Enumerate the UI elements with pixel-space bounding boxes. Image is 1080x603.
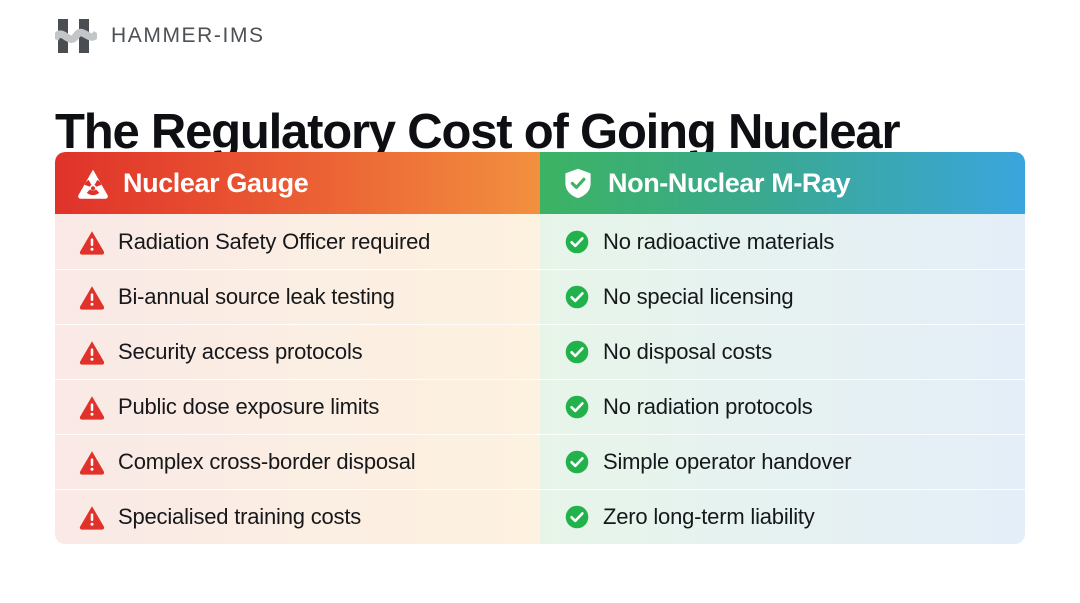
row-label: No special licensing — [603, 284, 793, 310]
row-label: Simple operator handover — [603, 449, 851, 475]
table-row[interactable]: No radiation protocols — [540, 379, 1025, 434]
radiation-warning-triangle-icon — [77, 167, 109, 199]
check-circle-icon — [564, 504, 590, 530]
row-label: Security access protocols — [118, 339, 362, 365]
row-label: Radiation Safety Officer required — [118, 229, 430, 255]
warning-triangle-icon — [79, 339, 105, 365]
rows-nuclear-gauge: Radiation Safety Officer required Bi-ann… — [55, 214, 540, 544]
row-label: Zero long-term liability — [603, 504, 815, 530]
table-row[interactable]: Specialised training costs — [55, 489, 540, 544]
check-circle-icon — [564, 449, 590, 475]
check-circle-icon — [564, 394, 590, 420]
column-header-nuclear-gauge: Nuclear Gauge — [55, 152, 540, 214]
row-label: Public dose exposure limits — [118, 394, 379, 420]
warning-triangle-icon — [79, 449, 105, 475]
column-header-label: Non-Nuclear M-Ray — [608, 168, 850, 199]
row-label: Bi-annual source leak testing — [118, 284, 395, 310]
table-row[interactable]: No radioactive materials — [540, 214, 1025, 269]
table-row[interactable]: No disposal costs — [540, 324, 1025, 379]
column-header-label: Nuclear Gauge — [123, 168, 308, 199]
table-row[interactable]: Complex cross-border disposal — [55, 434, 540, 489]
check-circle-icon — [564, 284, 590, 310]
column-header-non-nuclear-m-ray: Non-Nuclear M-Ray — [540, 152, 1025, 214]
warning-triangle-icon — [79, 394, 105, 420]
column-non-nuclear-m-ray: Non-Nuclear M-Ray No radioactive materia… — [540, 152, 1025, 544]
rows-non-nuclear-m-ray: No radioactive materials No special lice… — [540, 214, 1025, 544]
table-row[interactable]: Bi-annual source leak testing — [55, 269, 540, 324]
column-nuclear-gauge: Nuclear Gauge Radiation Safety Officer r… — [55, 152, 540, 544]
warning-triangle-icon — [79, 284, 105, 310]
table-row[interactable]: Zero long-term liability — [540, 489, 1025, 544]
table-row[interactable]: No special licensing — [540, 269, 1025, 324]
brand-header: HAMMER-IMS — [55, 14, 265, 58]
warning-triangle-icon — [79, 504, 105, 530]
comparison-table: Nuclear Gauge Radiation Safety Officer r… — [55, 152, 1025, 544]
row-label: No disposal costs — [603, 339, 772, 365]
row-label: Specialised training costs — [118, 504, 361, 530]
brand-name: HAMMER-IMS — [111, 24, 265, 48]
table-row[interactable]: Radiation Safety Officer required — [55, 214, 540, 269]
shield-check-icon — [562, 167, 594, 199]
warning-triangle-icon — [79, 229, 105, 255]
check-circle-icon — [564, 339, 590, 365]
table-row[interactable]: Simple operator handover — [540, 434, 1025, 489]
row-label: No radioactive materials — [603, 229, 834, 255]
row-label: Complex cross-border disposal — [118, 449, 415, 475]
table-row[interactable]: Public dose exposure limits — [55, 379, 540, 434]
hammer-ims-h-wave-logo-icon — [55, 15, 97, 57]
row-label: No radiation protocols — [603, 394, 813, 420]
check-circle-icon — [564, 229, 590, 255]
table-row[interactable]: Security access protocols — [55, 324, 540, 379]
